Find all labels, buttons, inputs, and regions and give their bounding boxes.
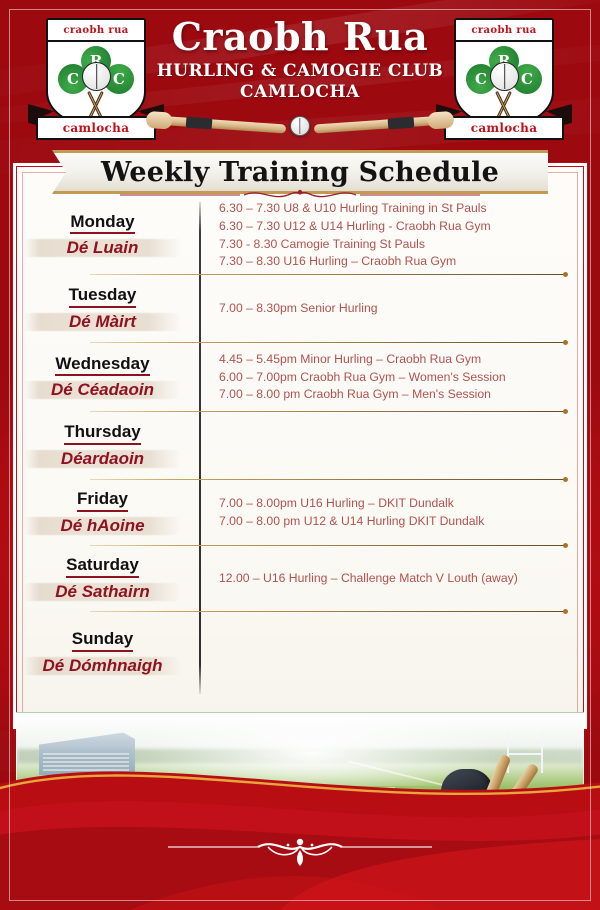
sessions-cell: 4.45 – 5.45pm Minor Hurling – Craobh Rua…	[199, 351, 584, 404]
footer-flourish-icon	[150, 834, 450, 868]
schedule-table: MondayDé Luain6.30 – 7.30 U8 & U10 Hurli…	[16, 196, 584, 694]
sessions-cell: 6.30 – 7.30 U8 & U10 Hurling Training in…	[199, 200, 584, 271]
crest-shield-icon: craobh rua R C C	[46, 18, 146, 126]
crest-bottom-band-label: camlocha	[63, 121, 130, 135]
day-cell-monday: MondayDé Luain	[16, 212, 199, 260]
schedule-rows: MondayDé Luain6.30 – 7.30 U8 & U10 Hurli…	[16, 196, 584, 694]
session-entry: 7.30 – 8.30 U16 Hurling – Craobh Rua Gym	[219, 253, 572, 271]
sessions-cell: 7.00 – 8.30pm Senior Hurling	[199, 300, 584, 318]
day-name-irish-wrap: Dé Sathairn	[16, 581, 189, 603]
session-entry: 7.00 – 8.00pm U16 Hurling – DKIT Dundalk	[219, 495, 572, 513]
schedule-row: SaturdayDé Sathairn12.00 – U16 Hurling –…	[16, 546, 584, 612]
hurling-gear-group	[417, 753, 567, 831]
session-entry: 7.00 – 8.30pm Senior Hurling	[219, 300, 572, 318]
session-entry: 7.00 – 8.00 pm U12 & U14 Hurling DKIT Du…	[219, 513, 572, 531]
crest-letter-right: C	[113, 70, 125, 88]
crest-letter-left: C	[475, 70, 487, 88]
day-name-irish-wrap: Déardaoin	[16, 448, 189, 470]
day-name-english: Tuesday	[69, 285, 137, 308]
day-name-english: Friday	[77, 489, 128, 512]
day-name-irish: Dé Màirt	[69, 312, 136, 332]
day-name-irish-wrap: Dé Dómhnaigh	[16, 655, 189, 677]
header-hurleys-graphic	[150, 104, 450, 144]
club-title-block: Craobh Rua HURLING & CAMOGIE CLUB CAMLOC…	[150, 18, 450, 102]
crest-letter-right: C	[521, 70, 533, 88]
poster-header: craobh rua R C C camlocha	[0, 0, 600, 150]
crest-bottom-band-label: camlocha	[471, 121, 538, 135]
session-entry: 12.00 – U16 Hurling – Challenge Match V …	[219, 570, 572, 588]
club-subtitle-discipline: HURLING & CAMOGIE CLUB	[150, 61, 450, 81]
session-entry: 6.30 – 7.30 U12 & U14 Hurling - Craobh R…	[219, 218, 572, 236]
day-name-english: Thursday	[64, 422, 141, 445]
session-entry: 4.45 – 5.45pm Minor Hurling – Craobh Rua…	[219, 351, 572, 369]
session-entry: 6.00 – 7.00pm Craobh Rua Gym – Women's S…	[219, 369, 572, 387]
club-crest-left: craobh rua R C C camlocha	[32, 14, 160, 142]
day-cell-saturday: SaturdayDé Sathairn	[16, 555, 199, 603]
sliotar-ball-icon	[290, 116, 310, 136]
crest-bottom-band: camlocha	[36, 116, 156, 140]
day-cell-friday: FridayDé hAoine	[16, 489, 199, 537]
day-name-irish: Dé hAoine	[60, 516, 144, 536]
shamrock-icon: R C C	[465, 50, 543, 98]
day-name-irish-wrap: Dé Màirt	[16, 311, 189, 333]
day-cell-wednesday: WednesdayDé Céadaoin	[16, 354, 199, 402]
pitch-marking	[165, 787, 395, 797]
day-name-irish-wrap: Dé hAoine	[16, 515, 189, 537]
schedule-row: ThursdayDéardaoin	[16, 412, 584, 480]
day-name-irish-wrap: Dé Luain	[16, 237, 189, 259]
day-name-irish: Déardaoin	[61, 449, 144, 469]
day-name-english: Saturday	[66, 555, 139, 578]
crest-top-band-label: craobh rua	[63, 25, 128, 36]
crest-letter-left: C	[67, 70, 79, 88]
sliotar-ball-icon	[82, 62, 111, 91]
sessions-cell: 12.00 – U16 Hurling – Challenge Match V …	[199, 570, 584, 588]
day-name-english: Sunday	[72, 629, 133, 652]
crest-shield-icon: craobh rua R C C	[454, 18, 554, 126]
day-cell-tuesday: TuesdayDé Màirt	[16, 285, 199, 333]
day-name-irish-wrap: Dé Céadaoin	[16, 379, 189, 401]
session-entry: 7.30 - 8.30 Camogie Training St Pauls	[219, 236, 572, 254]
session-entry: 7.00 – 8.00 pm Craobh Rua Gym – Men's Se…	[219, 386, 572, 404]
banner-notch-icon	[532, 153, 548, 191]
day-cell-thursday: ThursdayDéardaoin	[16, 422, 199, 470]
day-cell-sunday: SundayDé Dómhnaigh	[16, 629, 199, 677]
hurley-stick-right-icon	[314, 115, 446, 133]
schedule-row: SundayDé Dómhnaigh	[16, 612, 584, 694]
footer-flourish	[0, 834, 600, 868]
page-title: Weekly Training Schedule	[101, 157, 499, 188]
day-name-irish: Dé Céadaoin	[51, 380, 154, 400]
schedule-row: WednesdayDé Céadaoin4.45 – 5.45pm Minor …	[16, 343, 584, 412]
crest-bottom-band: camlocha	[444, 116, 564, 140]
day-name-irish: Dé Luain	[67, 238, 139, 258]
hurley-stick-left-icon	[154, 115, 286, 133]
shamrock-icon: R C C	[57, 50, 135, 98]
schedule-row: MondayDé Luain6.30 – 7.30 U8 & U10 Hurli…	[16, 196, 584, 275]
schedule-row: FridayDé hAoine7.00 – 8.00pm U16 Hurling…	[16, 480, 584, 546]
poster: craobh rua R C C camlocha	[0, 0, 600, 910]
day-name-english: Wednesday	[55, 354, 149, 377]
session-entry: 6.30 – 7.30 U8 & U10 Hurling Training in…	[219, 200, 572, 218]
day-name-english: Monday	[70, 212, 134, 235]
crest-top-band: craobh rua	[48, 20, 144, 42]
day-name-irish: Dé Sathairn	[55, 582, 149, 602]
day-name-irish: Dé Dómhnaigh	[43, 656, 163, 676]
crest-top-band: craobh rua	[456, 20, 552, 42]
sliotar-ball-icon	[497, 805, 521, 829]
sliotar-ball-icon	[525, 799, 549, 823]
club-subtitle-location: CAMLOCHA	[150, 82, 450, 102]
pitch-photo	[16, 712, 584, 832]
club-crest-right: craobh rua R C C camlocha	[440, 14, 568, 142]
sessions-cell: 7.00 – 8.00pm U16 Hurling – DKIT Dundalk…	[199, 495, 584, 530]
crest-top-band-label: craobh rua	[471, 25, 536, 36]
club-name: Craobh Rua	[150, 18, 450, 56]
sliotar-ball-icon	[419, 801, 443, 825]
sliotar-ball-icon	[490, 62, 519, 91]
schedule-row: TuesdayDé Màirt7.00 – 8.30pm Senior Hurl…	[16, 275, 584, 343]
